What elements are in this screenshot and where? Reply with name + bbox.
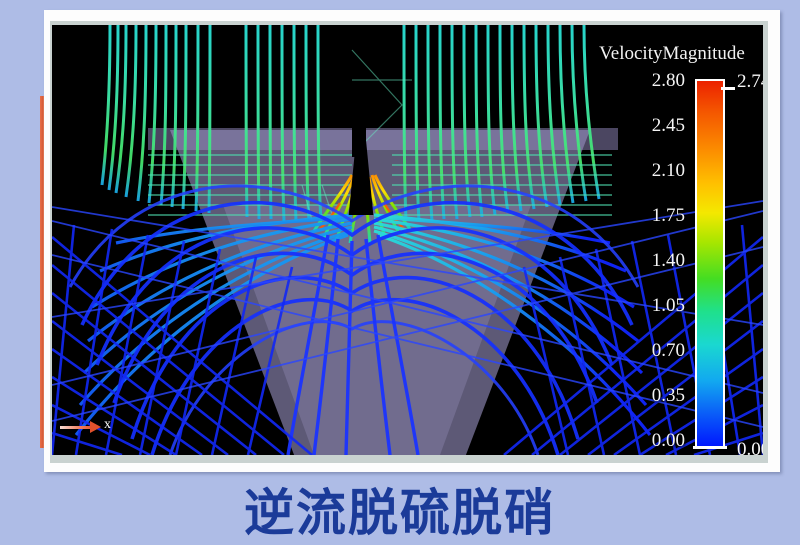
- colorbar-min-tickmark: [693, 446, 727, 449]
- colorbar[interactable]: VelocityMagnitude 2.80 2.45 2.10 1.75 1.…: [637, 43, 763, 455]
- slide-caption: 逆流脱硫脱硝: [0, 476, 800, 542]
- colorbar-tick-label: 2.10: [652, 160, 685, 182]
- orientation-axis-widget: x: [60, 413, 130, 443]
- colorbar-max-tickmark: [721, 87, 735, 90]
- colorbar-tick-label: 0.70: [652, 340, 685, 362]
- colorbar-tick-label: 0.35: [652, 385, 685, 407]
- 3d-render-viewport[interactable]: VelocityMagnitude 2.80 2.45 2.10 1.75 1.…: [52, 25, 763, 455]
- colorbar-tick-label: 1.05: [652, 295, 685, 317]
- slide-canvas: VelocityMagnitude 2.80 2.45 2.10 1.75 1.…: [0, 0, 800, 542]
- colorbar-max-annotation: 2.74: [737, 71, 763, 93]
- axis-arrow-icon: [60, 426, 94, 429]
- colorbar-title: VelocityMagnitude: [577, 43, 763, 65]
- colorbar-min-annotation: 0.00: [737, 439, 763, 455]
- colorbar-tick-label: 2.45: [652, 115, 685, 137]
- nozzle-stem: [352, 117, 366, 157]
- colorbar-tick-label: 0.00: [652, 430, 685, 452]
- colorbar-tick-label: 1.75: [652, 205, 685, 227]
- axis-label-x: x: [104, 417, 111, 433]
- axis-arrowhead-icon: [90, 421, 101, 433]
- colorbar-gradient[interactable]: [695, 79, 725, 449]
- colorbar-tick-label: 2.80: [652, 70, 685, 92]
- colorbar-tick-label: 1.40: [652, 250, 685, 272]
